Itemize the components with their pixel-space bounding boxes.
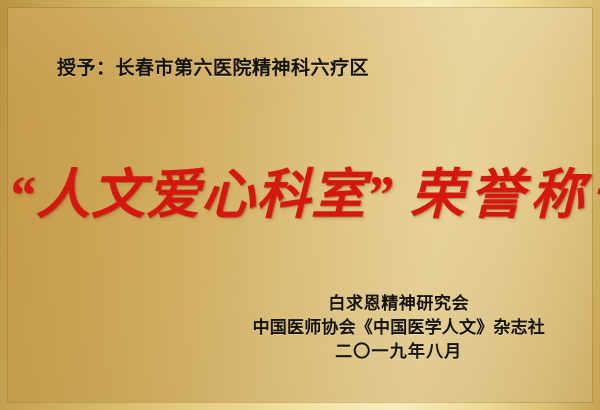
signature-issuer: 白求恩精神研究会 bbox=[253, 292, 545, 316]
signature-date: 二〇一九年八月 bbox=[253, 340, 545, 364]
award-recipient-line: 授予：长春市第六医院精神科六疗区 bbox=[57, 56, 369, 82]
honor-title-suffix-part: 荣誉称号 bbox=[410, 165, 600, 225]
signature-block: 白求恩精神研究会 中国医师协会《中国医学人文》杂志社 二〇一九年八月 bbox=[253, 292, 545, 364]
plaque-panel: 授予：长春市第六医院精神科六疗区 “人文爱心科室”荣誉称号 白求恩精神研究会 中… bbox=[8, 8, 592, 402]
honor-title-quoted-part: “人文爱心科室” bbox=[8, 165, 394, 225]
plaque-frame: 授予：长春市第六医院精神科六疗区 “人文爱心科室”荣誉称号 白求恩精神研究会 中… bbox=[0, 0, 600, 410]
signature-publisher: 中国医师协会《中国医学人文》杂志社 bbox=[253, 316, 545, 340]
honor-title: “人文爱心科室”荣誉称号 bbox=[8, 160, 592, 230]
